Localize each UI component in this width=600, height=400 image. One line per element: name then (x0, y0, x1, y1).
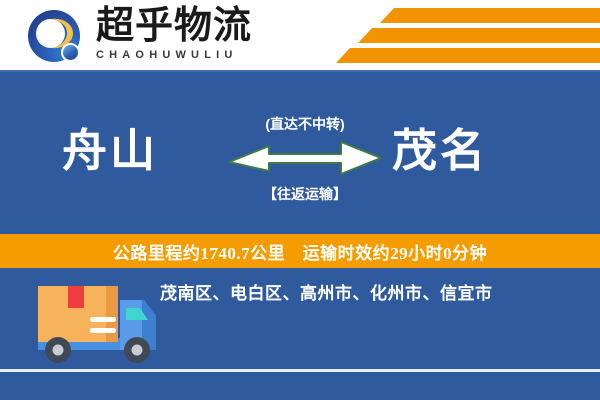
route-note-direct: (直达不中转) (225, 114, 385, 134)
route-direction-block: (直达不中转) 【往返运输】 (225, 114, 385, 219)
double-headed-arrow-icon (225, 137, 385, 175)
stripe-3-shape (336, 48, 600, 63)
origin-city-name: 舟山 (62, 124, 158, 178)
ground-line-divider (0, 369, 600, 372)
destination-city-name: 茂名 (392, 124, 488, 178)
stripe-1-shape (380, 8, 600, 23)
route-section: 舟山 (直达不中转) 【往返运输】 茂名 (0, 70, 600, 234)
banner-header: 超乎物流 CHAOHUWULIU (0, 0, 600, 70)
route-info-bar: 公路里程约1740.7公里 运输时效约29小时0分钟 (0, 232, 600, 270)
brand-name-cn: 超乎物流 (96, 6, 276, 46)
stripe-2-shape (358, 28, 600, 43)
route-info-text: 公路里程约1740.7公里 运输时效约29小时0分钟 (113, 239, 487, 264)
logo-accent-dot-shape (61, 43, 80, 62)
logistics-route-banner: 超乎物流 CHAOHUWULIU 舟山 (直达不中转) 【往返运输】 茂名 公路… (0, 0, 600, 400)
header-stripes-decoration (330, 0, 600, 70)
route-note-roundtrip: 【往返运输】 (225, 184, 385, 204)
delivery-truck-icon (24, 270, 174, 372)
coverage-section: 茂南区、电白区、高州市、化州市、信宜市 (0, 270, 600, 400)
company-logo-icon (28, 10, 84, 62)
coverage-areas-text: 茂南区、电白区、高州市、化州市、信宜市 (160, 282, 580, 306)
brand-name-en: CHAOHUWULIU (96, 48, 276, 62)
brand-text-block: 超乎物流 CHAOHUWULIU (96, 6, 276, 62)
